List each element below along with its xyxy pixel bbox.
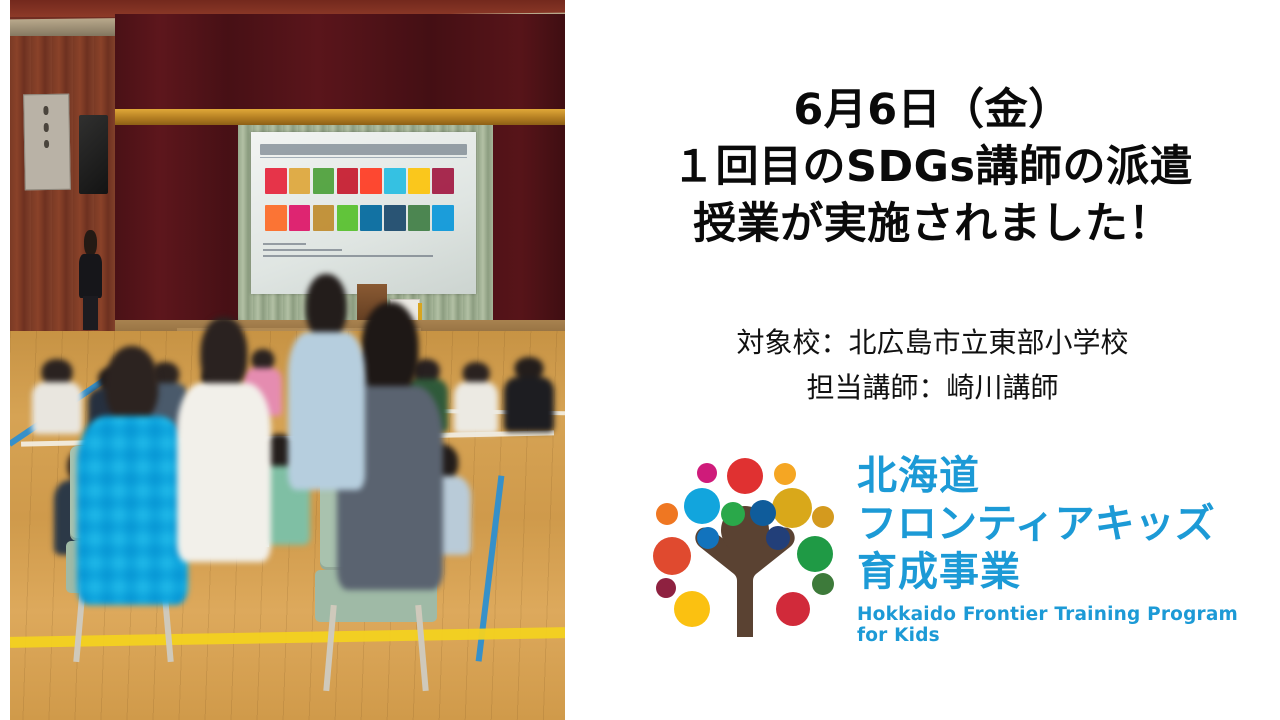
- wall-speaker: [79, 115, 108, 194]
- text-panel: 6月6日（金） １回目のSDGs講師の派遣 授業が実施されました！ 対象校：北広…: [585, 0, 1280, 720]
- logo-jp-line-1: 北海道: [857, 452, 1265, 500]
- photo-content: [10, 0, 565, 720]
- wall-sign: [23, 93, 71, 189]
- projection-screen: [251, 132, 476, 294]
- event-details: 対象校：北広島市立東部小学校 担当講師：崎川講師: [585, 320, 1280, 411]
- logo-english-tagline: Hokkaido Frontier Training Program for K…: [857, 604, 1265, 646]
- headline-line-1: 6月6日（金）: [585, 82, 1280, 139]
- gold-valance: [115, 109, 565, 124]
- target-school: 対象校：北広島市立東部小学校: [585, 320, 1280, 365]
- organization-logo: 北海道 フロンティアキッズ 育成事業 Hokkaido Frontier Tra…: [645, 452, 1265, 672]
- headline-line-2: １回目のSDGs講師の派遣: [585, 139, 1280, 196]
- tree-of-children-emblem: [645, 457, 845, 657]
- sdg-icon-row-bottom: [265, 205, 454, 231]
- logo-text-block: 北海道 フロンティアキッズ 育成事業 Hokkaido Frontier Tra…: [857, 452, 1265, 646]
- slide-root: 6月6日（金） １回目のSDGs講師の派遣 授業が実施されました！ 対象校：北広…: [0, 0, 1280, 720]
- logo-jp-line-2: フロンティアキッズ: [857, 500, 1265, 548]
- logo-japanese-name: 北海道 フロンティアキッズ 育成事業: [857, 452, 1265, 596]
- classroom-gymnasium-photo: [10, 0, 565, 720]
- logo-jp-line-3: 育成事業: [857, 548, 1265, 596]
- student-foreground-white: [177, 317, 271, 562]
- slide-body-text: [263, 243, 461, 261]
- student-foreground-left: [77, 346, 188, 605]
- slide-title-bar: [260, 144, 467, 155]
- assigned-lecturer: 担当講師：崎川講師: [585, 365, 1280, 410]
- headline-line-3: 授業が実施されました！: [585, 196, 1280, 253]
- standing-presenter: [79, 230, 101, 327]
- sdg-icon-row-top: [265, 168, 454, 194]
- page-title: 6月6日（金） １回目のSDGs講師の派遣 授業が実施されました！: [585, 82, 1280, 252]
- student-foreground-lightblue: [288, 274, 366, 490]
